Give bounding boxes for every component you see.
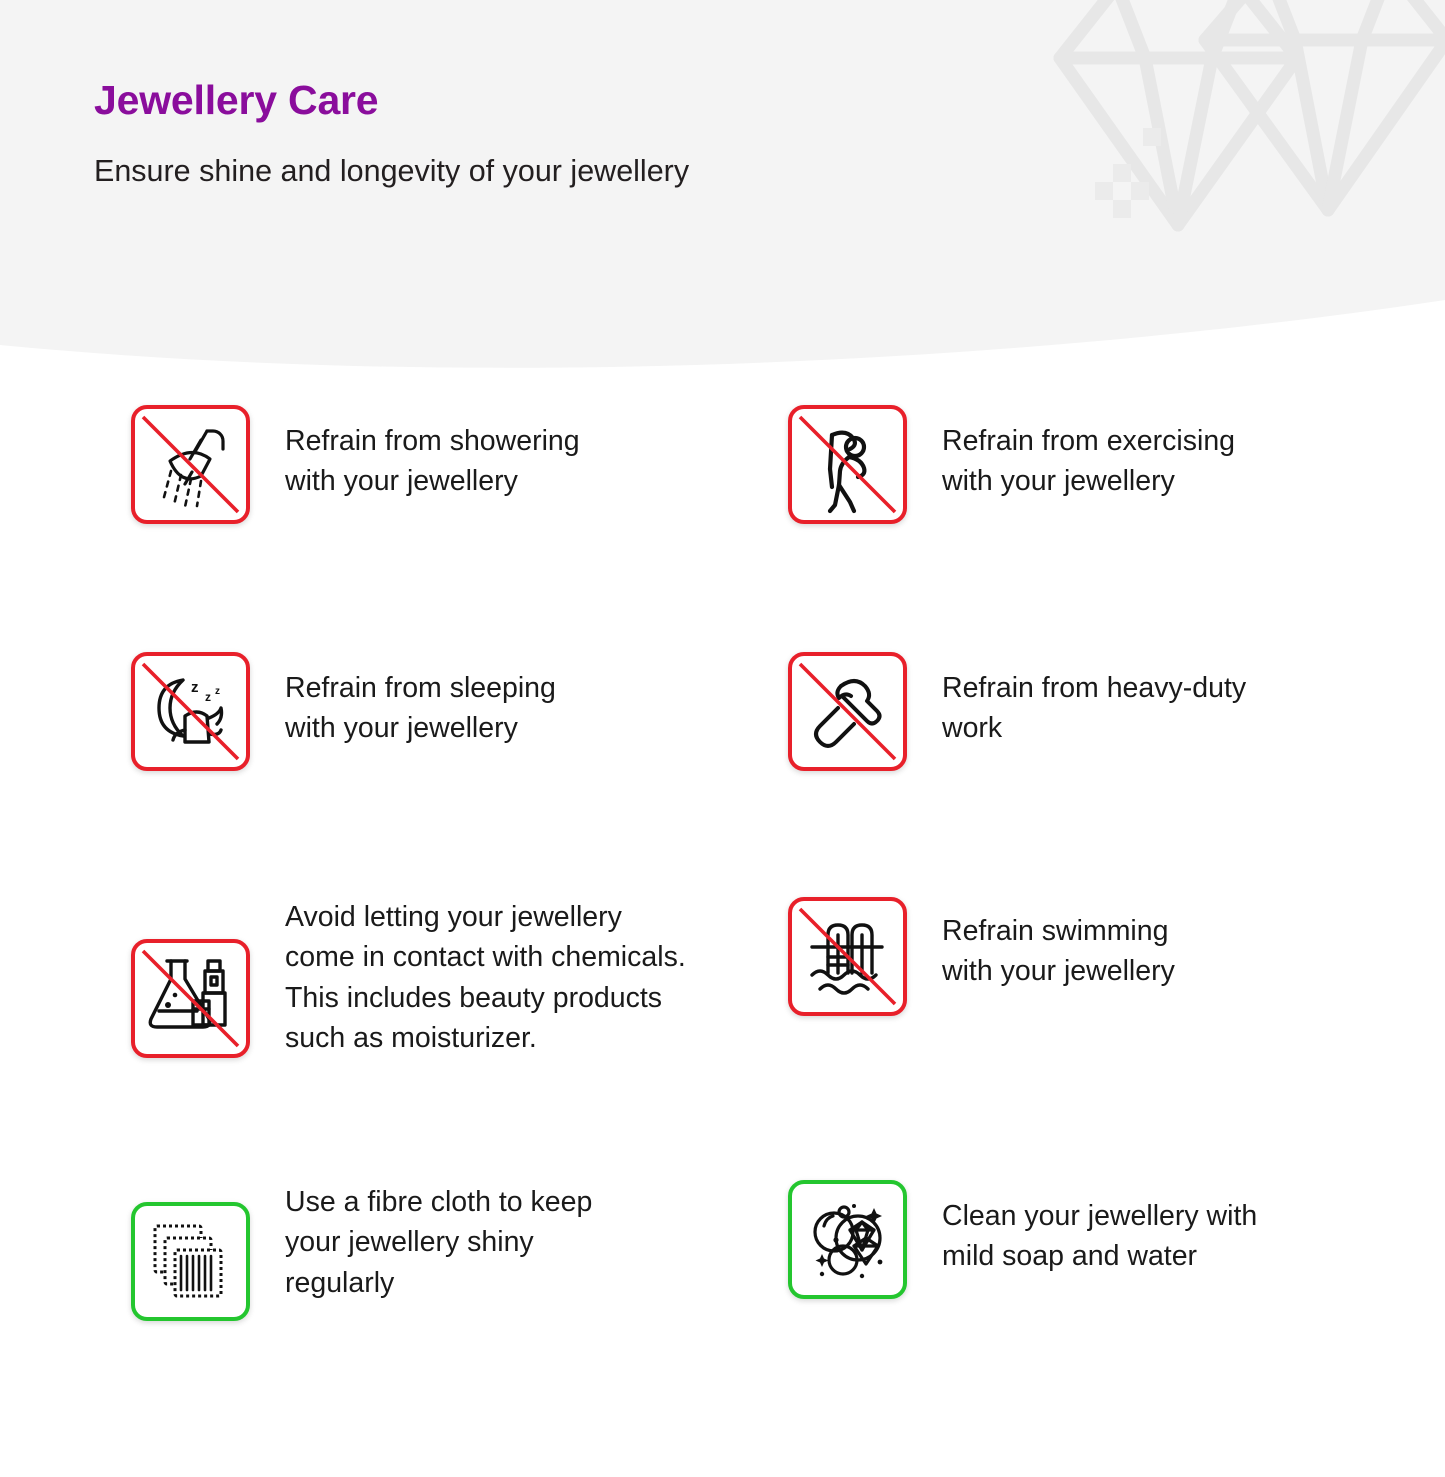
moon-sleeping-cat-icon: z z z — [131, 652, 250, 771]
care-item-heavy-duty-work: Refrain from heavy-duty work — [730, 652, 1445, 771]
care-row: Avoid letting your jewellery come in con… — [0, 897, 1445, 1059]
hammer-icon — [788, 652, 907, 771]
header-text-block: Jewellery Care Ensure shine and longevit… — [94, 76, 689, 190]
care-item-fibre-cloth: Use a fibre cloth to keep your jewellery… — [0, 1180, 730, 1321]
care-item-label: Use a fibre cloth to keep your jewellery… — [250, 1180, 592, 1303]
care-item-label: Refrain from sleeping with your jeweller… — [250, 652, 556, 749]
diamond-bubbles-clean-icon — [788, 1180, 907, 1299]
care-item-sleeping: z z z Refrain from sleeping with your je… — [0, 652, 730, 771]
care-item-label: Refrain from exercising with your jewell… — [907, 405, 1235, 502]
care-instructions-grid: Refrain from showering with your jewelle… — [0, 395, 1445, 1321]
page-header: Jewellery Care Ensure shine and longevit… — [0, 0, 1445, 395]
page-title: Jewellery Care — [94, 76, 689, 124]
care-row: z z z Refrain from sleeping with your je… — [0, 652, 1445, 771]
flask-chemicals-icon — [131, 939, 250, 1058]
care-item-chemicals: Avoid letting your jewellery come in con… — [0, 897, 730, 1059]
care-item-label: Avoid letting your jewellery come in con… — [250, 897, 686, 1059]
page-subtitle: Ensure shine and longevity of your jewel… — [94, 124, 689, 190]
svg-text:z: z — [205, 690, 211, 704]
fibre-cloth-stack-icon — [131, 1202, 250, 1321]
person-exercising-icon — [788, 405, 907, 524]
swimming-pool-icon — [788, 897, 907, 1016]
care-item-label: Refrain from heavy-duty work — [907, 652, 1246, 749]
care-item-swimming: Refrain swimming with your jewellery — [730, 897, 1445, 1059]
care-item-label: Refrain swimming with your jewellery — [907, 897, 1175, 992]
svg-text:z: z — [191, 679, 199, 696]
care-item-label: Clean your jewellery with mild soap and … — [907, 1180, 1257, 1277]
header-background-shape — [0, 0, 1445, 395]
care-row: Use a fibre cloth to keep your jewellery… — [0, 1180, 1445, 1321]
care-item-exercising: Refrain from exercising with your jewell… — [730, 405, 1445, 524]
care-item-showering: Refrain from showering with your jewelle… — [0, 405, 730, 524]
care-item-label: Refrain from showering with your jewelle… — [250, 405, 580, 502]
care-row: Refrain from showering with your jewelle… — [0, 405, 1445, 524]
care-item-mild-soap: Clean your jewellery with mild soap and … — [730, 1180, 1445, 1321]
shower-head-icon — [131, 405, 250, 524]
svg-text:z: z — [215, 686, 220, 697]
